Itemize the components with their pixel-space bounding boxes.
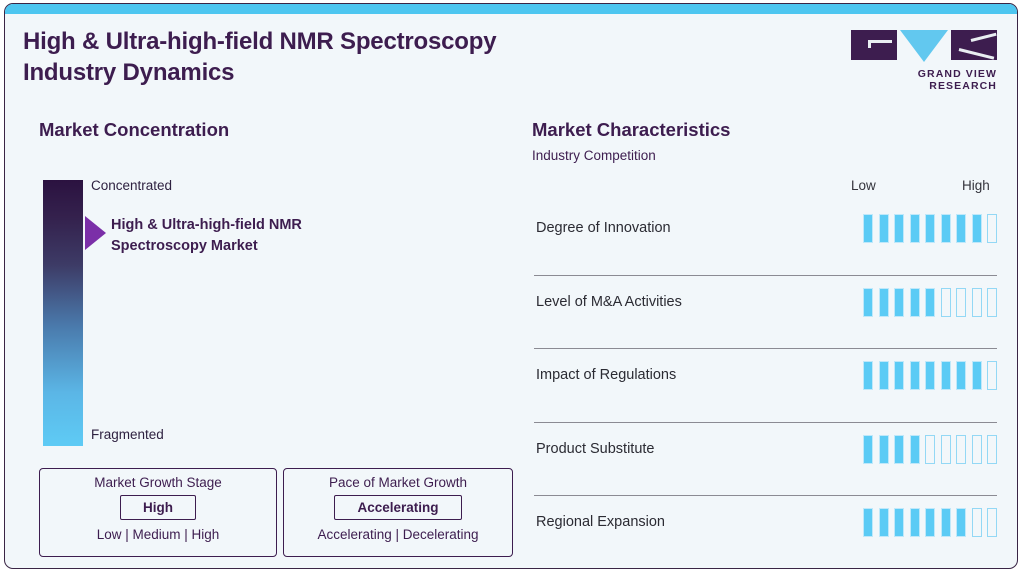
characteristic-rating-bars [863,435,997,464]
pace-of-market-growth-box: Pace of Market Growth Accelerating Accel… [283,468,513,557]
characteristic-row: Degree of Innovation [534,202,997,276]
rating-segment-empty [956,288,966,317]
pace-of-market-growth-scale: Accelerating | Decelerating [284,527,512,542]
characteristic-row: Regional Expansion [534,496,997,569]
top-accent-bar [5,4,1017,14]
characteristic-rating-bars [863,508,997,537]
pace-of-market-growth-value: Accelerating [334,495,461,520]
rating-segment-filled [910,214,920,243]
characteristic-row: Level of M&A Activities [534,276,997,350]
rating-segment-filled [956,508,966,537]
gradient-bottom-label: Fragmented [91,427,164,442]
rating-segment-filled [941,214,951,243]
rating-segment-filled [925,214,935,243]
rating-segment-empty [987,288,997,317]
logo-r-icon [951,30,997,60]
gradient-top-label: Concentrated [91,178,172,193]
rating-segment-filled [910,508,920,537]
rating-segment-filled [879,361,889,390]
characteristic-row: Impact of Regulations [534,349,997,423]
rating-segment-empty [941,288,951,317]
rating-segment-empty [972,508,982,537]
market-concentration-title: Market Concentration [39,119,229,141]
characteristics-rows: Degree of InnovationLevel of M&A Activit… [534,202,997,569]
brand-logo: GRAND VIEW RESEARCH [847,30,997,92]
rating-segment-filled [879,288,889,317]
rating-segment-filled [925,508,935,537]
characteristic-label: Product Substitute [536,441,655,457]
rating-segment-filled [879,214,889,243]
rating-segment-empty [987,214,997,243]
rating-segment-filled [956,361,966,390]
rating-segment-filled [863,214,873,243]
pace-of-market-growth-title: Pace of Market Growth [284,475,512,490]
characteristic-rating-bars [863,214,997,243]
rating-segment-empty [925,435,935,464]
rating-segment-empty [987,361,997,390]
rating-segment-filled [879,435,889,464]
characteristic-label: Regional Expansion [536,514,665,530]
concentration-gradient-bar [43,180,83,446]
rating-segment-empty [941,435,951,464]
rating-segment-filled [863,435,873,464]
market-growth-stage-scale: Low | Medium | High [40,527,276,542]
rating-segment-filled [972,214,982,243]
rating-segment-filled [941,361,951,390]
rating-segment-empty [972,435,982,464]
logo-marks [847,30,997,64]
rating-segment-filled [910,288,920,317]
market-characteristics-subtitle: Industry Competition [532,148,656,163]
rating-segment-empty [972,288,982,317]
page-title-line-1: High & Ultra-high-field NMR Spectroscopy [23,26,663,57]
characteristic-rating-bars [863,361,997,390]
scale-label-low: Low [851,178,876,193]
market-growth-stage-box: Market Growth Stage High Low | Medium | … [39,468,277,557]
rating-segment-empty [987,508,997,537]
rating-segment-filled [894,214,904,243]
page-title-line-2: Industry Dynamics [23,57,663,88]
characteristic-row: Product Substitute [534,423,997,497]
market-position-label-line-2: Spectroscopy Market [111,236,411,257]
rating-segment-filled [925,288,935,317]
characteristic-label: Level of M&A Activities [536,294,682,310]
rating-segment-filled [910,361,920,390]
rating-segment-filled [941,508,951,537]
rating-segment-filled [894,508,904,537]
logo-triangle-icon [900,30,948,62]
rating-segment-filled [894,288,904,317]
rating-segment-filled [863,508,873,537]
rating-segment-filled [894,435,904,464]
market-growth-stage-value: High [120,495,196,520]
logo-g-icon [851,30,897,60]
characteristic-label: Impact of Regulations [536,367,676,383]
rating-segment-filled [879,508,889,537]
rating-segment-filled [863,361,873,390]
rating-segment-empty [987,435,997,464]
rating-segment-filled [910,435,920,464]
rating-segment-filled [925,361,935,390]
rating-segment-filled [894,361,904,390]
page-title: High & Ultra-high-field NMR Spectroscopy… [23,26,663,88]
market-position-label: High & Ultra-high-field NMR Spectroscopy… [111,215,411,257]
market-growth-stage-title: Market Growth Stage [40,475,276,490]
rating-segment-filled [972,361,982,390]
rating-segment-filled [956,214,966,243]
logo-wordmark: GRAND VIEW RESEARCH [847,68,997,92]
market-position-label-line-1: High & Ultra-high-field NMR [111,215,411,236]
market-position-marker-icon [85,216,106,250]
infographic-card: High & Ultra-high-field NMR Spectroscopy… [4,3,1018,569]
rating-segment-empty [956,435,966,464]
scale-label-high: High [962,178,990,193]
market-characteristics-title: Market Characteristics [532,119,730,141]
rating-segment-filled [863,288,873,317]
characteristic-rating-bars [863,288,997,317]
characteristic-label: Degree of Innovation [536,220,671,236]
